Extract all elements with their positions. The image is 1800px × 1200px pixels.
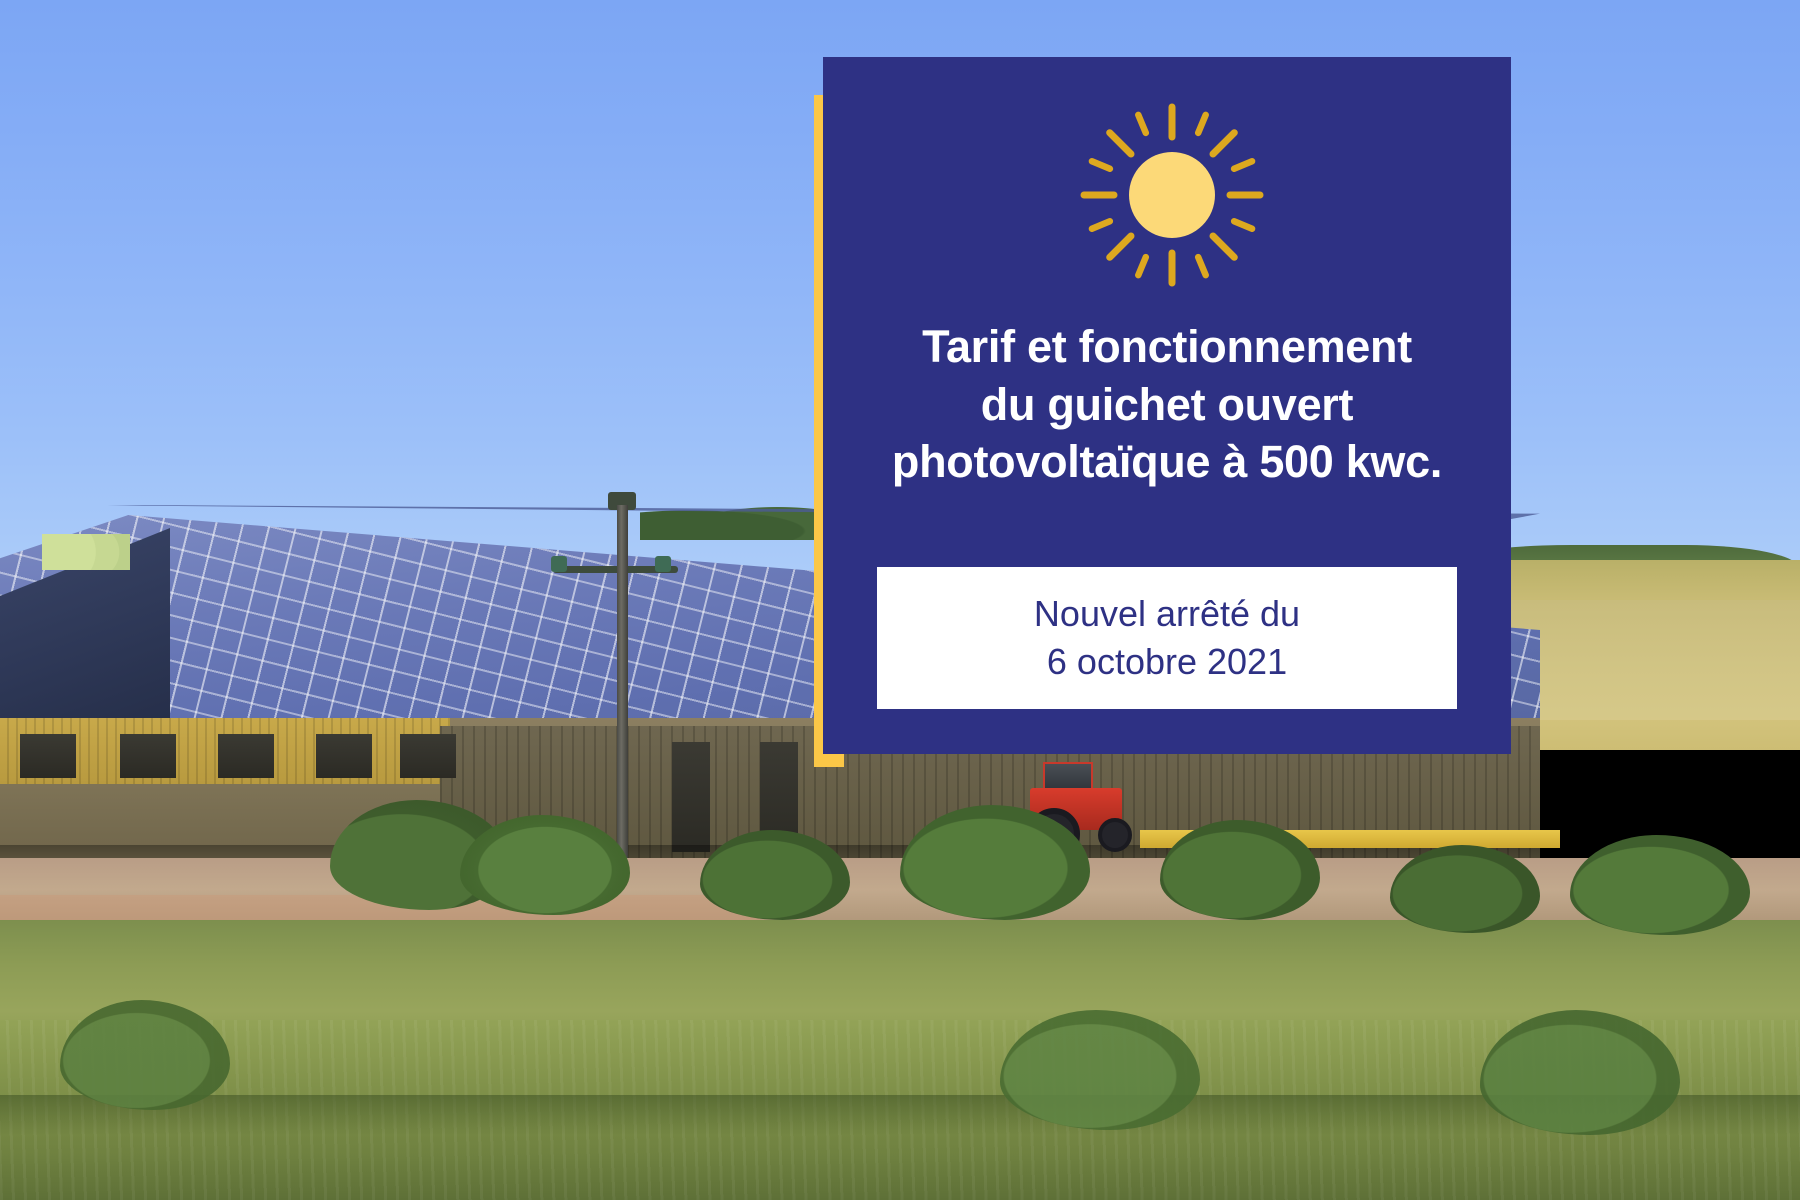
sun-icon — [1072, 95, 1272, 295]
barn-window — [400, 734, 456, 778]
title-line-3: photovoltaïque à 500 kwc. — [823, 433, 1511, 491]
title-line-1: Tarif et fonctionnement — [823, 318, 1511, 376]
banner-image: Tarif et fonctionnement du guichet ouver… — [0, 0, 1800, 1200]
barn-window — [316, 734, 372, 778]
pole-insulator — [551, 556, 567, 572]
card-line-1: Nouvel arrêté du — [1034, 590, 1300, 638]
pole-insulator — [655, 556, 671, 572]
barn-opening — [672, 742, 710, 852]
panel-title: Tarif et fonctionnement du guichet ouver… — [823, 318, 1511, 491]
barn-window — [120, 734, 176, 778]
barn-window — [218, 734, 274, 778]
title-line-2: du guichet ouvert — [823, 376, 1511, 434]
barn-window — [20, 734, 76, 778]
bush — [1570, 835, 1750, 935]
hay-bales — [42, 534, 130, 570]
card-line-2: 6 octobre 2021 — [1047, 638, 1287, 686]
tractor-front-wheel — [1098, 818, 1132, 852]
highlight-card-text: Nouvel arrêté du 6 octobre 2021 — [877, 567, 1457, 709]
